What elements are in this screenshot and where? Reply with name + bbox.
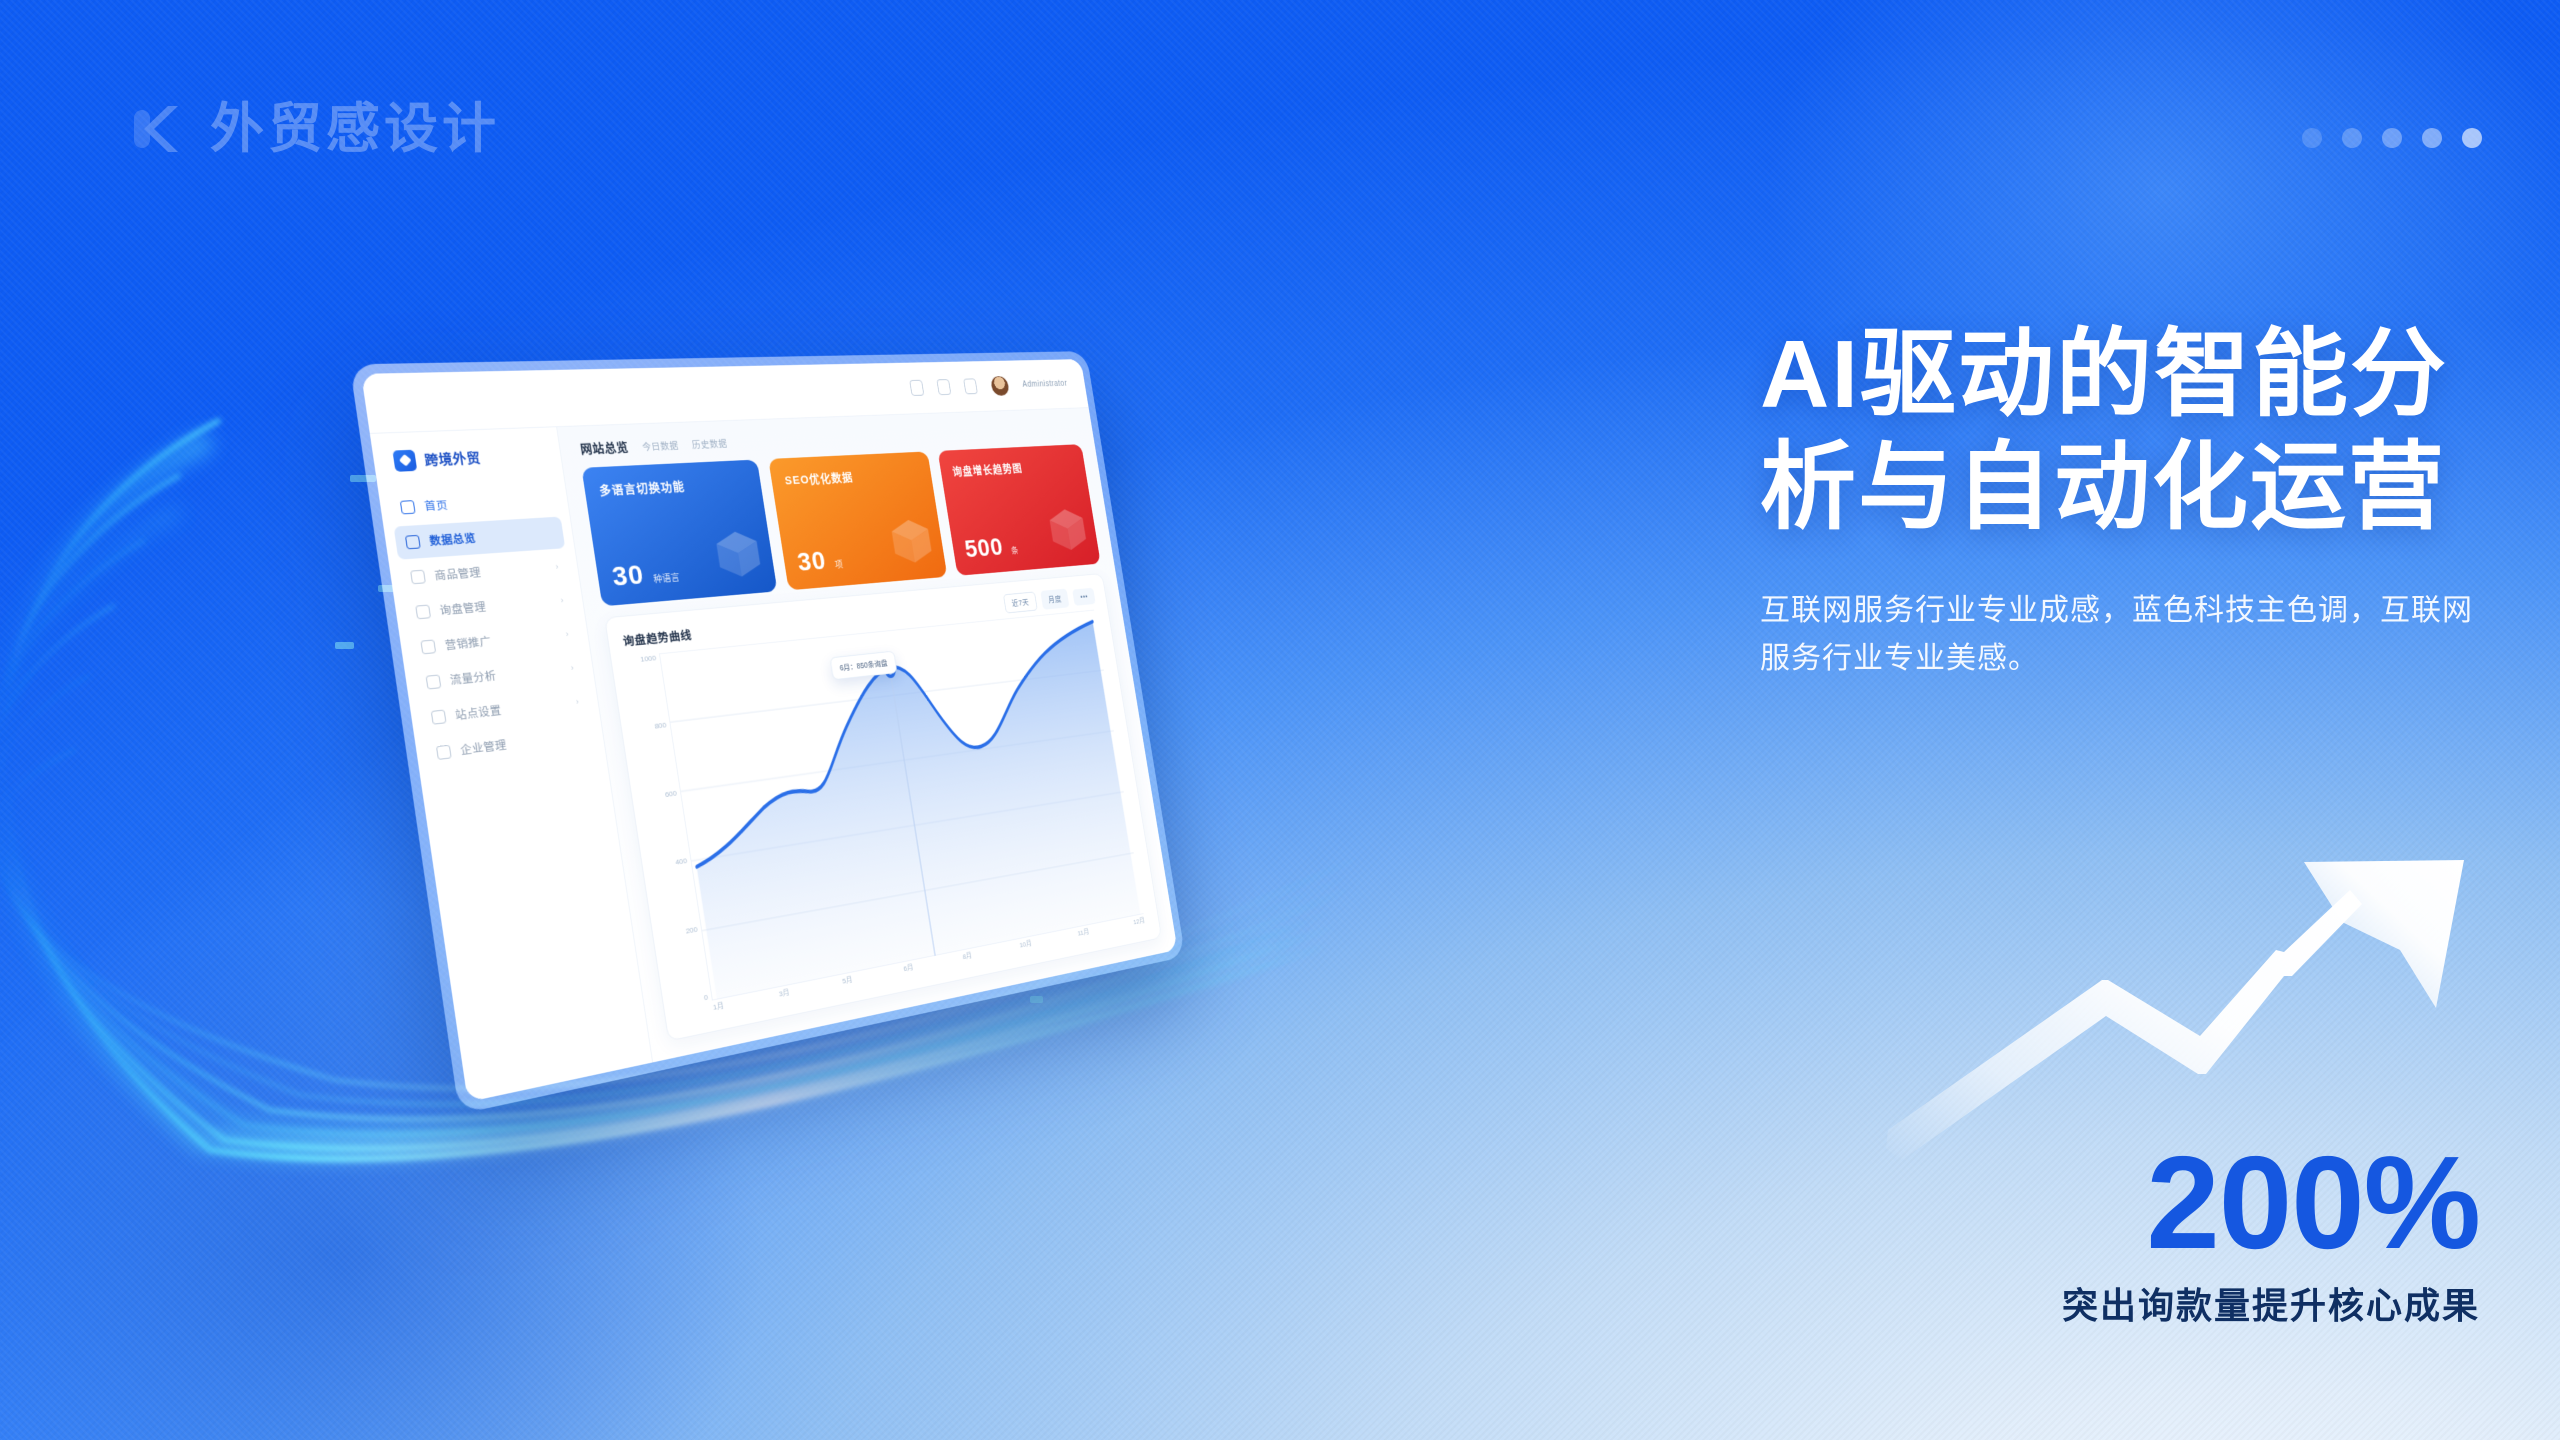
dashboard-device-mockup: Administrator 跨境外贸 首页 [404, 356, 1304, 1156]
bell-icon[interactable] [909, 380, 924, 396]
tab-overview[interactable]: 网站总览 [579, 437, 630, 456]
chart-filters: 近7天 月度 ••• [1003, 586, 1096, 613]
chart-icon [426, 674, 442, 689]
gear-icon [431, 710, 447, 725]
more-icon[interactable]: ••• [1072, 587, 1095, 605]
brand-logo: 外贸感设计 [128, 98, 500, 160]
chevron-left-mark-icon [128, 98, 190, 160]
stat-caption: 突出询款量提升核心成果 [1580, 1277, 2480, 1329]
x-tick: 8月 [962, 950, 974, 969]
indicator-dot[interactable] [2302, 128, 2322, 148]
brand-logo-text: 外贸感设计 [210, 102, 500, 156]
box-icon [410, 570, 426, 585]
device-frame: Administrator 跨境外贸 首页 [350, 351, 1186, 1114]
sidebar-item-label: 首页 [423, 497, 448, 514]
dashboard-screen: Administrator 跨境外贸 首页 [361, 359, 1177, 1102]
x-tick: 3月 [778, 987, 791, 1007]
kpi-value: 30 [795, 546, 828, 577]
y-tick: 0 [703, 993, 708, 1002]
kpi-card-languages[interactable]: 多语言切换功能 30 种语言 [581, 460, 777, 607]
kpi-title: 多语言切换功能 [598, 473, 749, 498]
chevron-right-icon: › [570, 663, 575, 673]
tab-today[interactable]: 今日数据 [641, 438, 679, 453]
hero-paragraph: 互联网服务行业专业成感，蓝色科技主色调，互联网服务行业专业美感。 [1760, 587, 2500, 684]
headline-line-2: 析与自动化运营 [1760, 431, 2500, 544]
sidebar-item-label: 营销推广 [444, 633, 492, 653]
sidebar-item-label: 数据总览 [428, 530, 476, 548]
chart-body: 1000 800 600 400 200 0 [625, 609, 1149, 1028]
indicator-dot[interactable] [2342, 128, 2362, 148]
cube-icon [886, 515, 936, 567]
megaphone-icon [420, 639, 436, 654]
y-tick: 200 [685, 925, 698, 935]
filter-7days[interactable]: 近7天 [1003, 592, 1037, 614]
home-icon [400, 500, 416, 514]
x-tick: 10月 [1019, 938, 1034, 957]
building-icon [436, 745, 452, 760]
app-logo-icon [392, 450, 417, 472]
chevron-right-icon: › [565, 629, 570, 639]
y-tick: 600 [664, 789, 677, 799]
stat-value: 200% [1580, 1140, 2480, 1267]
indicator-dot[interactable] [2462, 128, 2482, 148]
message-icon[interactable] [936, 379, 951, 395]
dashboard-content: 网站总览 今日数据 历史数据 多语言切换功能 30 种语言 [557, 408, 1177, 1062]
kpi-unit: 种语言 [653, 573, 680, 585]
chevron-right-icon: › [575, 697, 580, 707]
x-tick: 1月 [712, 1000, 726, 1021]
cube-icon [1045, 505, 1091, 554]
x-tick: 5月 [842, 974, 855, 994]
x-tick: 11月 [1077, 927, 1091, 946]
banner-stage: 外贸感设计 Administrator [0, 0, 2560, 1440]
sidebar-item-label: 流量分析 [449, 668, 497, 688]
sidebar-item-label: 站点设置 [454, 702, 502, 723]
page-title: AI驱动的智能分 析与自动化运营 [1760, 318, 2500, 545]
chart-card: 询盘趋势曲线 近7天 月度 ••• 1000 800 [604, 573, 1162, 1041]
kpi-unit: 条 [1011, 547, 1019, 557]
dashboard-brand: 跨境外贸 [372, 440, 564, 490]
kpi-title: 询盘增长趋势图 [951, 457, 1075, 479]
chevron-right-icon: › [560, 596, 565, 606]
indicator-dot[interactable] [2422, 128, 2442, 148]
kpi-card-seo[interactable]: SEO优化数据 30 项 [769, 451, 948, 590]
y-tick: 400 [675, 857, 688, 867]
x-tick: 6月 [903, 962, 915, 982]
growth-arrow-icon [1880, 830, 2500, 1160]
sidebar-item-label: 企业管理 [459, 737, 507, 758]
page-indicator-dots[interactable] [2302, 128, 2482, 148]
sidebar-item-label: 商品管理 [434, 565, 482, 584]
sidebar-item-label: 询盘管理 [439, 599, 487, 618]
chevron-right-icon: › [555, 562, 560, 572]
tab-history[interactable]: 历史数据 [691, 436, 728, 451]
username-label: Administrator [1022, 379, 1068, 389]
kpi-title: SEO优化数据 [783, 465, 919, 488]
headline-line-1: AI驱动的智能分 [1760, 318, 2500, 431]
stat-block: 200% 突出询款量提升核心成果 [1580, 1140, 2480, 1329]
cube-icon [711, 527, 765, 582]
dashboard-icon [405, 535, 421, 549]
indicator-dot[interactable] [2382, 128, 2402, 148]
chart-title: 询盘趋势曲线 [622, 625, 693, 649]
settings-icon[interactable] [963, 378, 978, 394]
y-tick: 800 [654, 721, 667, 731]
filter-monthly[interactable]: 月度 [1040, 589, 1070, 610]
inquiry-icon [415, 605, 431, 620]
avatar[interactable] [989, 375, 1011, 397]
hero-copy: AI驱动的智能分 析与自动化运营 互联网服务行业专业成感，蓝色科技主色调，互联网… [1760, 318, 2500, 684]
kpi-value: 30 [610, 559, 646, 592]
y-tick: 1000 [640, 654, 657, 664]
x-tick: 12月 [1133, 916, 1147, 935]
kpi-card-inquiries[interactable]: 询盘增长趋势图 500 条 [937, 444, 1100, 576]
kpi-unit: 项 [834, 560, 843, 570]
kpi-value: 500 [963, 533, 1005, 563]
dashboard-brand-name: 跨境外贸 [423, 448, 482, 469]
